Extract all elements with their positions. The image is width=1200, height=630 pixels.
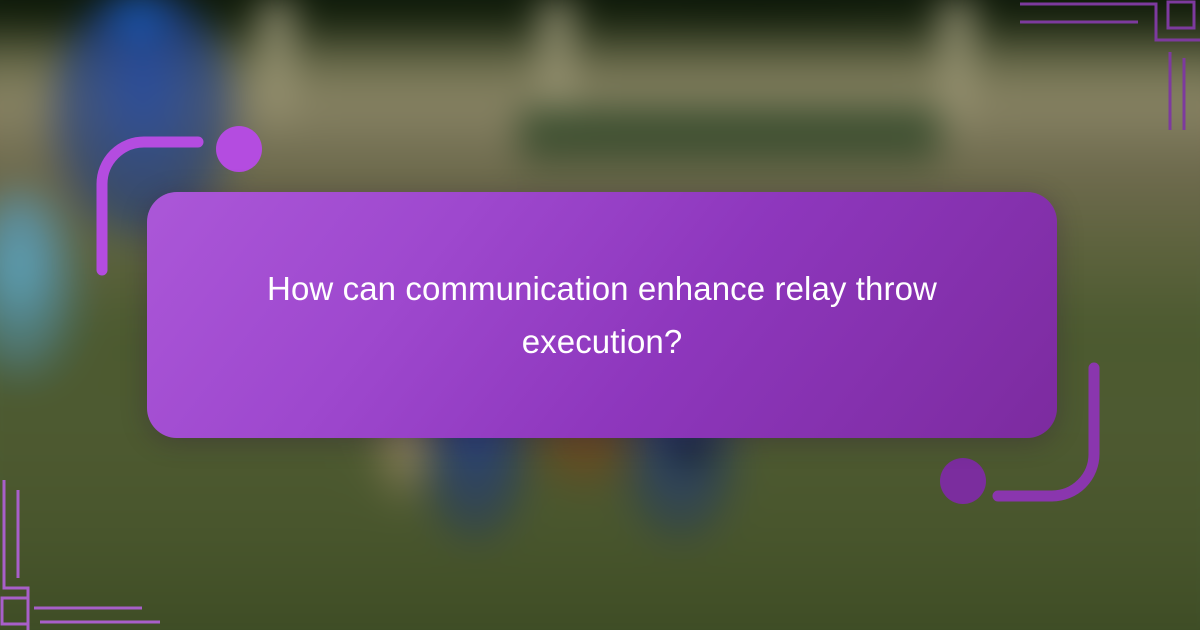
question-text: How can communication enhance relay thro… — [228, 262, 976, 369]
background-hedge — [520, 110, 940, 168]
poster-canvas: How can communication enhance relay thro… — [0, 0, 1200, 630]
accent-dot-top-left — [216, 126, 262, 172]
question-card: How can communication enhance relay thro… — [147, 192, 1057, 438]
fence-post — [260, 0, 294, 130]
fence-post — [940, 0, 974, 130]
accent-dot-bottom-right — [940, 458, 986, 504]
